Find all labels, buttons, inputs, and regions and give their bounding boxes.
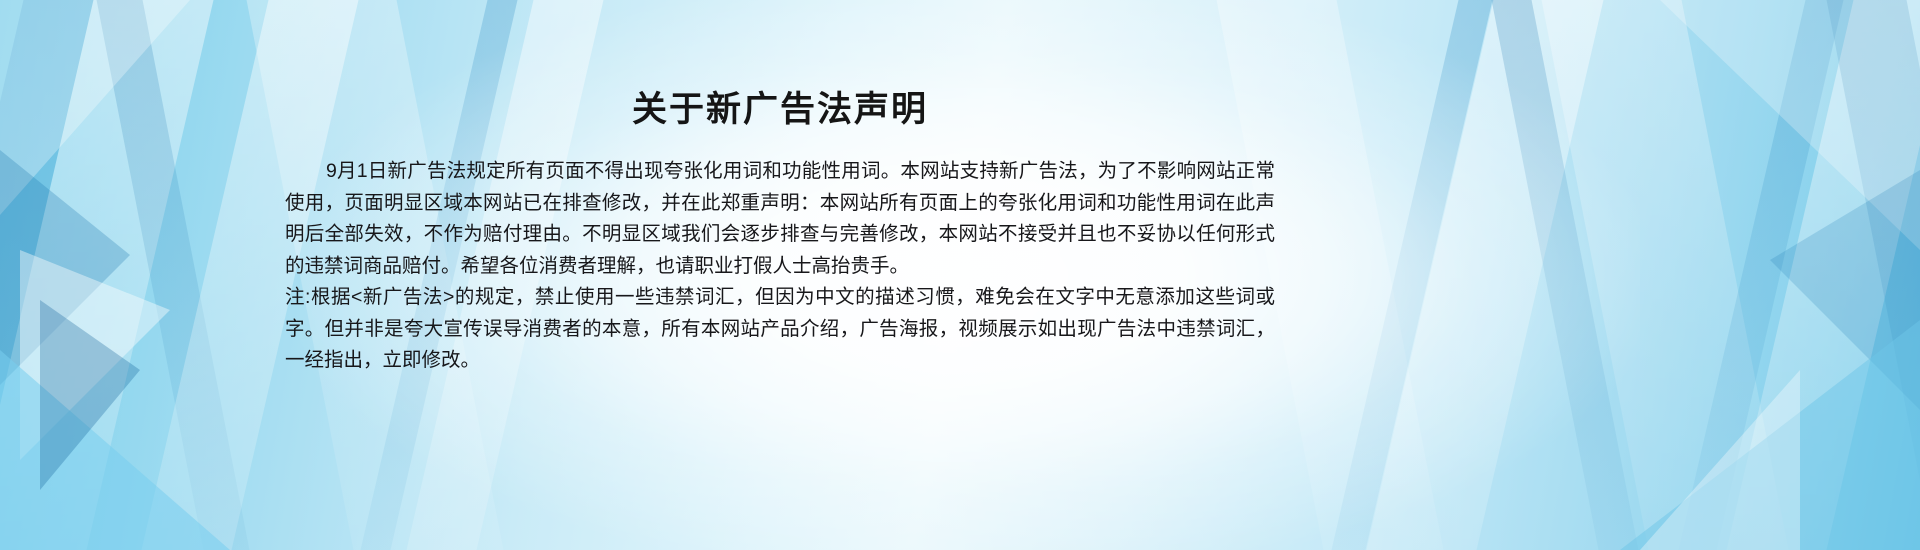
advertising-law-statement-banner: 关于新广告法声明 9月1日新广告法规定所有页面不得出现夸张化用词和功能性用词。本… bbox=[0, 0, 1920, 550]
page-title: 关于新广告法声明 bbox=[0, 88, 1560, 132]
statement-paragraph-main: 9月1日新广告法规定所有页面不得出现夸张化用词和功能性用词。本网站支持新广告法，… bbox=[285, 156, 1275, 282]
statement-body: 9月1日新广告法规定所有页面不得出现夸张化用词和功能性用词。本网站支持新广告法，… bbox=[285, 156, 1275, 377]
statement-content: 关于新广告法声明 9月1日新广告法规定所有页面不得出现夸张化用词和功能性用词。本… bbox=[0, 0, 1920, 550]
statement-paragraph-note: 注:根据<新广告法>的规定，禁止使用一些违禁词汇，但因为中文的描述习惯，难免会在… bbox=[285, 282, 1275, 377]
